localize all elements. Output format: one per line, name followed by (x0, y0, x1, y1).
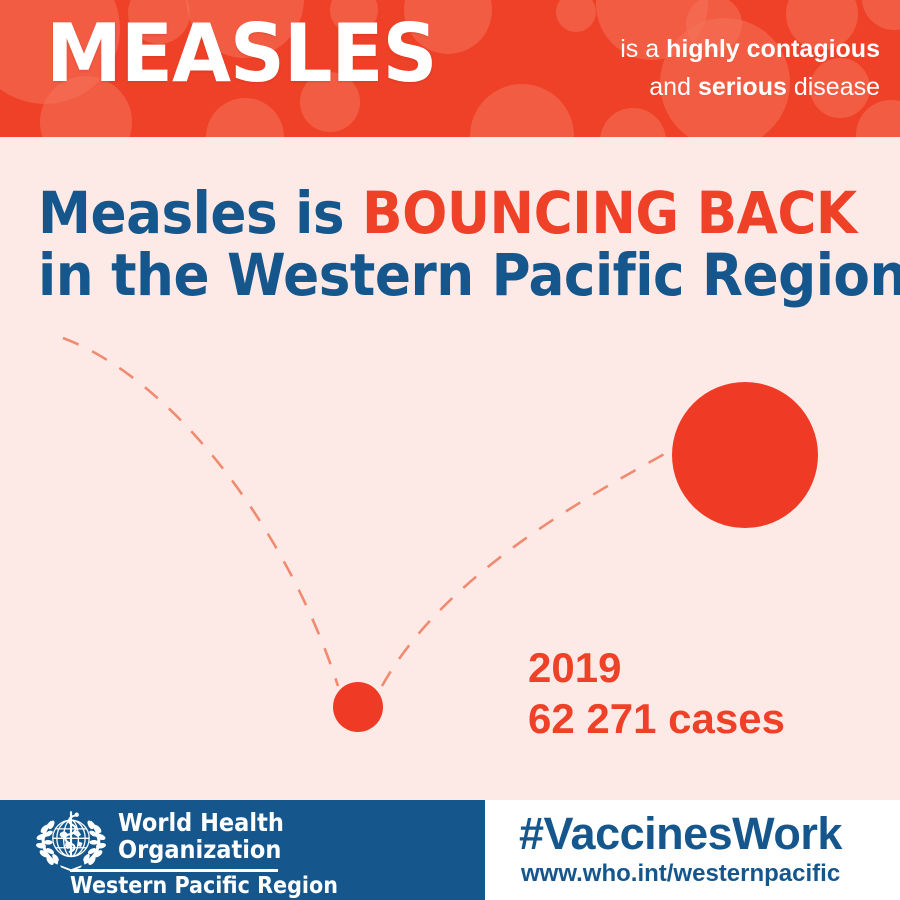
decorative-bubble (862, 0, 900, 30)
trend-line-decline (63, 338, 338, 686)
tagline-line-1-heavy: highly contagious (666, 35, 880, 63)
campaign-hashtag[interactable]: #VaccinesWork (519, 810, 842, 858)
tagline-line-2-heavy: serious (698, 73, 787, 101)
tagline-line-2-light: and (649, 73, 691, 101)
footer-campaign-panel: #VaccinesWork www.who.int/westernpacific (485, 800, 900, 900)
who-region-label: Western Pacific Region (70, 872, 338, 900)
data-bubble-2019[interactable] (672, 382, 818, 528)
case-trend-chart: 2019 62 271 cases 2012: 10 796 cases (0, 130, 900, 800)
measles-infographic: MEASLES is a highly contagious and serio… (0, 0, 900, 900)
tagline-line-2: and serious disease (420, 68, 880, 106)
who-wordmark: World Health Organization (118, 809, 284, 863)
who-emblem-icon (30, 810, 112, 872)
tagline-line-2-tail: disease (794, 73, 880, 101)
header-title: MEASLES (46, 14, 436, 94)
footer: World Health Organization Western Pacifi… (0, 800, 900, 900)
who-wordmark-line-2: Organization (118, 836, 284, 863)
data-label-2019-cases: 62 271 cases (528, 693, 785, 744)
decorative-bubble (556, 0, 596, 32)
tagline-line-1-light: is a (620, 35, 659, 63)
data-label-2019: 2019 62 271 cases (528, 642, 785, 744)
data-bubble-2012[interactable] (333, 682, 383, 732)
campaign-url[interactable]: www.who.int/westernpacific (521, 860, 840, 888)
header-band: MEASLES is a highly contagious and serio… (0, 0, 900, 137)
who-wordmark-line-1: World Health (118, 809, 284, 836)
tagline-line-1: is a highly contagious (420, 30, 880, 68)
data-label-2019-year: 2019 (528, 642, 785, 693)
footer-who-panel: World Health Organization Western Pacifi… (0, 800, 485, 900)
header-tagline: is a highly contagious and serious disea… (420, 30, 880, 106)
who-logo[interactable]: World Health Organization Western Pacifi… (30, 808, 290, 894)
